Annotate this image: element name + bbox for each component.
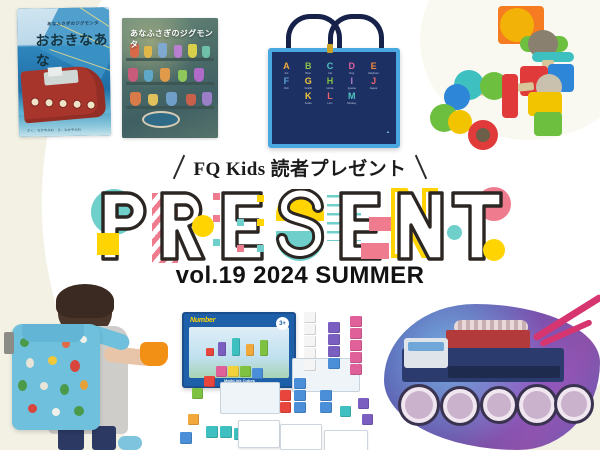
tote-alphabet-letter: B (305, 62, 312, 71)
wordmark-letter-p (95, 189, 151, 263)
tote-alphabet-letter: D (349, 62, 356, 71)
cube-tower-block (350, 340, 362, 351)
child-shoe (118, 436, 142, 450)
deco-pink-bar (369, 217, 391, 231)
tote-alphabet-letter: I (351, 77, 354, 86)
backpack-side-tab (4, 332, 14, 354)
gear-block-green (534, 112, 562, 136)
book-shelf-pot (194, 68, 204, 82)
deco-teal-dot (257, 245, 264, 252)
backpack-pattern-dot (74, 406, 84, 416)
book-ship-porthole (30, 97, 39, 106)
book-shelf-pot (186, 94, 196, 106)
wordmark-letter-e-1 (213, 189, 269, 263)
tote-alphabet-cell: EElephant (363, 62, 384, 75)
product-alphabet-tote-bag: AAntBBearCCatDDogEElephantFFishGGiraffeH… (262, 14, 398, 142)
backpack-body (12, 324, 100, 430)
tote-zipper-pull (327, 44, 333, 53)
backpack-pattern-dot (80, 380, 88, 390)
product-picture-book-ship: あなふさぎのジグモンタ おおきなあな さく：なかやみわ え：なかやみわ (17, 7, 111, 137)
cube-tower-block (294, 402, 306, 413)
loose-cube (240, 366, 251, 377)
tote-alphabet-letter: J (371, 77, 376, 86)
loose-cube (220, 426, 232, 438)
backpack-flap (22, 324, 84, 342)
deco-teal-dot (237, 219, 244, 226)
poster-canvas: あなふさぎのジグモンタ おおきなあな さく：なかやみわ え：なかやみわ あなふさ… (0, 0, 600, 450)
book-shelf-pot (148, 94, 158, 106)
cube-tower-block (294, 390, 306, 401)
tote-alphabet-word: Bear (305, 72, 310, 75)
book-shelf-board (126, 82, 214, 85)
backpack-pattern-dot (70, 360, 80, 372)
slash-right-icon (415, 155, 427, 180)
box-art-cube (206, 348, 214, 356)
tote-alphabet-cell: KKoala (298, 92, 319, 105)
cube-tower-block (328, 334, 340, 345)
header-brand-row: FQ Kids 読者プレゼント (0, 152, 600, 182)
deco-yellow-circle (192, 215, 214, 237)
tote-alphabet-cell: LLion (320, 92, 341, 105)
product-lego-technic-rover (384, 304, 600, 450)
cube-tower-block (304, 324, 316, 335)
tote-alphabet-letter: M (348, 92, 356, 101)
book-shelf-pot (202, 92, 212, 106)
deco-yellow-dot (257, 219, 264, 226)
cube-tower-block (294, 378, 306, 389)
gear-axle-hub (476, 128, 490, 142)
number-blocks-box: Number 3+ MathLink Cubes (182, 312, 296, 388)
tote-alphabet-letter: H (327, 77, 334, 86)
child-orange-toy (140, 342, 168, 366)
tote-alphabet-letter: L (327, 92, 333, 101)
wordmark-letter-s (272, 189, 328, 263)
cube-tower-block (328, 346, 340, 357)
rover-wheel (440, 386, 480, 426)
cube-tower-block (328, 322, 340, 333)
book-shelf-pot (160, 68, 170, 82)
activity-card (280, 424, 322, 450)
cube-tower-block (320, 390, 332, 401)
deco-yellow-circle (483, 239, 505, 261)
age-badge: 3+ (276, 317, 289, 330)
slash-left-icon (172, 155, 184, 180)
tote-alphabet-cell: GGiraffe (298, 77, 319, 90)
tote-alphabet-letter: E (371, 62, 377, 71)
rover-wheel (516, 384, 558, 426)
loose-cube (228, 366, 239, 377)
brand-title: FQ Kids 読者プレゼント (194, 154, 407, 181)
tote-alphabet-cell: HHorse (320, 77, 341, 90)
tote-alphabet-word: Jaguar (370, 87, 378, 90)
tote-alphabet-cell: JJaguar (363, 77, 384, 90)
cube-tower-block (350, 352, 362, 363)
loose-cube (188, 414, 199, 425)
tote-alphabet-cell: FFish (276, 77, 297, 90)
activity-card (238, 420, 280, 448)
product-number-blocks-set: Number 3+ MathLink Cubes (176, 306, 400, 450)
book-ship-title: おおきなあな (35, 29, 110, 70)
cube-tower-block (350, 364, 362, 375)
tote-alphabet-word: Lion (328, 102, 333, 105)
tote-alphabet-word: Ant (284, 72, 288, 75)
issue-subtitle: vol.19 2024 SUMMER (0, 262, 600, 290)
activity-card (324, 430, 368, 450)
activity-mat (220, 382, 280, 414)
wordmark-letter-r (154, 189, 210, 263)
wordmark-letter-t (449, 189, 505, 263)
rover-window (408, 342, 444, 351)
box-art-cube (260, 340, 268, 356)
tote-alphabet-word: Fish (284, 87, 289, 90)
deco-pink-dot (237, 245, 244, 252)
deco-teal-dot (447, 225, 462, 240)
product-gear-marble-run-toy (424, 0, 600, 158)
rover-cargo-deck (446, 330, 530, 350)
tote-alphabet-cell: AAnt (276, 62, 297, 75)
backpack-pattern-dot (52, 408, 60, 416)
backpack-pattern-dot (18, 380, 27, 391)
tote-alphabet-letter: G (305, 77, 312, 86)
tote-alphabet-word: Monkey (347, 102, 356, 105)
tote-brand-logo: ▲ (386, 129, 390, 134)
box-art-cube (246, 344, 254, 356)
tote-alphabet-word: Horse (327, 87, 334, 90)
tote-alphabet-letter: F (284, 77, 290, 86)
backpack-pattern-dot (48, 356, 57, 365)
loose-cube (192, 388, 203, 399)
cube-tower-block (350, 328, 362, 339)
deco-pink-bar (361, 243, 389, 259)
tote-alphabet-cell: BBear (298, 62, 319, 75)
tote-alphabet-cell: MMonkey (341, 92, 362, 105)
cube-tower-block (328, 358, 340, 369)
book-ship-footer: さく：なかやみわ え：なかやみわ (27, 127, 81, 133)
wordmark-letter-e-2 (331, 189, 387, 263)
rover-wheel (480, 386, 518, 424)
deco-yellow-dot (257, 195, 264, 202)
tote-alphabet-letter: K (305, 92, 312, 101)
number-blocks-logo: Number (190, 317, 215, 324)
cube-tower-block (320, 402, 332, 413)
letter-s-glyph (272, 189, 328, 263)
product-toddler-with-backpack (0, 286, 180, 450)
loose-cube (216, 366, 227, 377)
loose-cube (358, 398, 369, 409)
backpack-pattern-dot (28, 404, 37, 413)
tote-alphabet-word: Koala (305, 102, 312, 105)
loose-cube (280, 390, 291, 401)
cube-tower-block (304, 312, 316, 323)
book-ship-series-label: あなふさぎのジグモンタ (47, 20, 99, 27)
tote-alphabet-word: Elephant (368, 72, 378, 75)
cube-tower-block (304, 336, 316, 347)
book-shelf-pot (166, 92, 177, 106)
tote-alphabet-word: Dog (349, 72, 354, 75)
book-shelf-title: あなふさぎのジグモンタ (130, 28, 218, 50)
product-picture-book-shelf: あなふさぎのジグモンタ (122, 18, 218, 138)
book-shelf-pot (178, 70, 187, 82)
book-shelf-pot (130, 92, 141, 106)
book-shelf-tub (142, 111, 180, 128)
book-shelf-pot (144, 70, 153, 82)
tote-alphabet-cell: DDog (341, 62, 362, 75)
loose-cube (252, 368, 263, 379)
tote-alphabet-letter: A (283, 62, 290, 71)
tote-alphabet-letter: C (327, 62, 334, 71)
tote-alphabet-cell: CCat (320, 62, 341, 75)
loose-cube (180, 432, 192, 444)
backpack-pattern-dot (40, 382, 48, 390)
deco-yellow-square (97, 233, 119, 255)
book-shelf-board (126, 106, 214, 109)
letter-n-glyph (390, 189, 446, 263)
child-leg (92, 426, 116, 450)
wordmark-letter-n (390, 189, 446, 263)
loose-cube (340, 406, 351, 417)
book-shelf-pot (128, 68, 138, 82)
tote-alphabet-grid: AAntBBearCCatDDogEElephantFFishGGiraffeH… (276, 62, 384, 105)
tote-alphabet-cell: IIguana (341, 77, 362, 90)
book-ship-porthole (72, 100, 81, 109)
box-art-cube (232, 338, 240, 356)
backpack-pattern-dot (60, 384, 69, 395)
rover-wheel (398, 384, 440, 426)
tote-alphabet-word: Giraffe (304, 87, 312, 90)
box-art-cube (218, 342, 226, 356)
loose-cube (280, 402, 291, 413)
cube-tower-block (304, 348, 316, 359)
rover-underframe (448, 366, 560, 378)
loose-cube (206, 426, 218, 438)
backpack-pattern-dot (26, 358, 34, 368)
tote-alphabet-word: Iguana (348, 87, 356, 90)
cube-tower-block (304, 360, 316, 371)
loose-cube (362, 414, 373, 425)
present-wordmark (0, 186, 600, 266)
rover-wheel (554, 384, 594, 424)
loose-cube (204, 376, 215, 387)
gear-block-red-tall (502, 74, 518, 118)
cube-tower-block (350, 316, 362, 327)
book-shelf-board (126, 58, 214, 61)
tote-alphabet-word: Cat (328, 72, 332, 75)
